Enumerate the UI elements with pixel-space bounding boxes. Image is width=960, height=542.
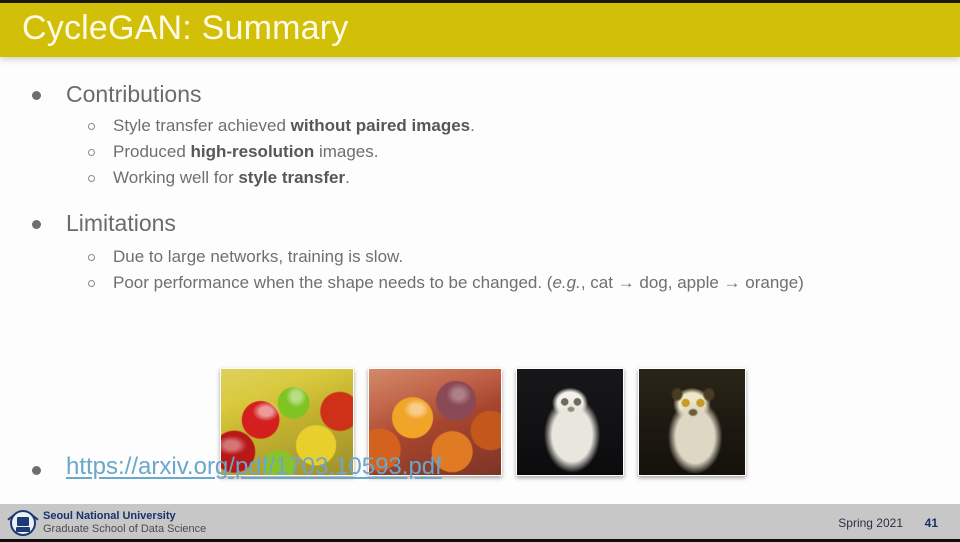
sub-bullet-post: . bbox=[345, 168, 350, 187]
sub-bullet-text: Poor performance when the shape needs to… bbox=[113, 272, 804, 294]
bullet-circle-icon bbox=[88, 280, 95, 287]
paper-url-link[interactable]: https://arxiv.org/pdf/1703.10593.pdf bbox=[66, 453, 442, 481]
snu-logo-icon bbox=[8, 510, 38, 538]
bullet-dot-icon bbox=[32, 466, 41, 475]
dog-output-image bbox=[638, 368, 746, 476]
bullet-circle-icon bbox=[88, 175, 95, 182]
sub-bullet-text: Produced high-resolution images. bbox=[113, 141, 378, 163]
title-bar: CycleGAN: Summary bbox=[0, 3, 960, 57]
sub-bullet-text: Working well for style transfer. bbox=[113, 167, 350, 189]
bullet-circle-icon bbox=[88, 149, 95, 156]
cat-face-layer bbox=[517, 369, 623, 475]
slide: CycleGAN: Summary Contributions Style tr… bbox=[0, 0, 960, 542]
bullet-circle-icon bbox=[88, 254, 95, 261]
sub-bullet-pre: Working well for bbox=[113, 168, 238, 187]
bullet-circle-icon bbox=[88, 123, 95, 130]
page-number: 41 bbox=[925, 516, 938, 530]
footer-institution: Seoul National University Graduate Schoo… bbox=[43, 510, 206, 536]
sub-bullet-text: Style transfer achieved without paired i… bbox=[113, 115, 475, 137]
sub-bullet-training-slow: Due to large networks, training is slow. bbox=[88, 246, 403, 268]
footer-bar: Seoul National University Graduate Schoo… bbox=[0, 504, 960, 539]
sub-bullet-post: , cat → dog, apple → orange) bbox=[581, 273, 804, 292]
sub-bullet-high-resolution: Produced high-resolution images. bbox=[88, 141, 378, 163]
sub-bullet-bold: high-resolution bbox=[191, 142, 315, 161]
slide-body: Contributions Style transfer achieved wi… bbox=[0, 57, 960, 504]
section-heading-limitations: Limitations bbox=[66, 209, 176, 237]
sub-bullet-text: Due to large networks, training is slow. bbox=[113, 246, 403, 268]
sub-bullet-style-transfer: Style transfer achieved without paired i… bbox=[88, 115, 475, 137]
bullet-contributions: Contributions bbox=[32, 80, 202, 108]
university-name: Seoul National University bbox=[43, 510, 206, 523]
bullet-dot-icon bbox=[32, 220, 41, 229]
sub-bullet-pre: Due to large networks, training is slow. bbox=[113, 247, 403, 266]
sub-bullet-italic: e.g. bbox=[552, 273, 580, 292]
sub-bullet-pre: Style transfer achieved bbox=[113, 116, 291, 135]
sub-bullet-style-transfer-works: Working well for style transfer. bbox=[88, 167, 350, 189]
sub-bullet-bold: without paired images bbox=[291, 116, 470, 135]
section-heading-contributions: Contributions bbox=[66, 80, 202, 108]
bullet-dot-icon bbox=[32, 91, 41, 100]
dog-face-layer bbox=[639, 369, 745, 475]
sub-bullet-post: . bbox=[470, 116, 475, 135]
sub-bullet-shape-change: Poor performance when the shape needs to… bbox=[88, 272, 804, 294]
bullet-paper-link: https://arxiv.org/pdf/1703.10593.pdf bbox=[32, 453, 442, 481]
sub-bullet-post: images. bbox=[314, 142, 378, 161]
page-title: CycleGAN: Summary bbox=[22, 9, 348, 48]
crest-emblem-icon bbox=[10, 510, 36, 536]
term-label: Spring 2021 bbox=[838, 516, 903, 530]
bullet-limitations: Limitations bbox=[32, 209, 176, 237]
school-name: Graduate School of Data Science bbox=[43, 523, 206, 536]
sub-bullet-pre: Produced bbox=[113, 142, 191, 161]
cat-input-image bbox=[516, 368, 624, 476]
sub-bullet-pre: Poor performance when the shape needs to… bbox=[113, 273, 552, 292]
sub-bullet-bold: style transfer bbox=[238, 168, 345, 187]
